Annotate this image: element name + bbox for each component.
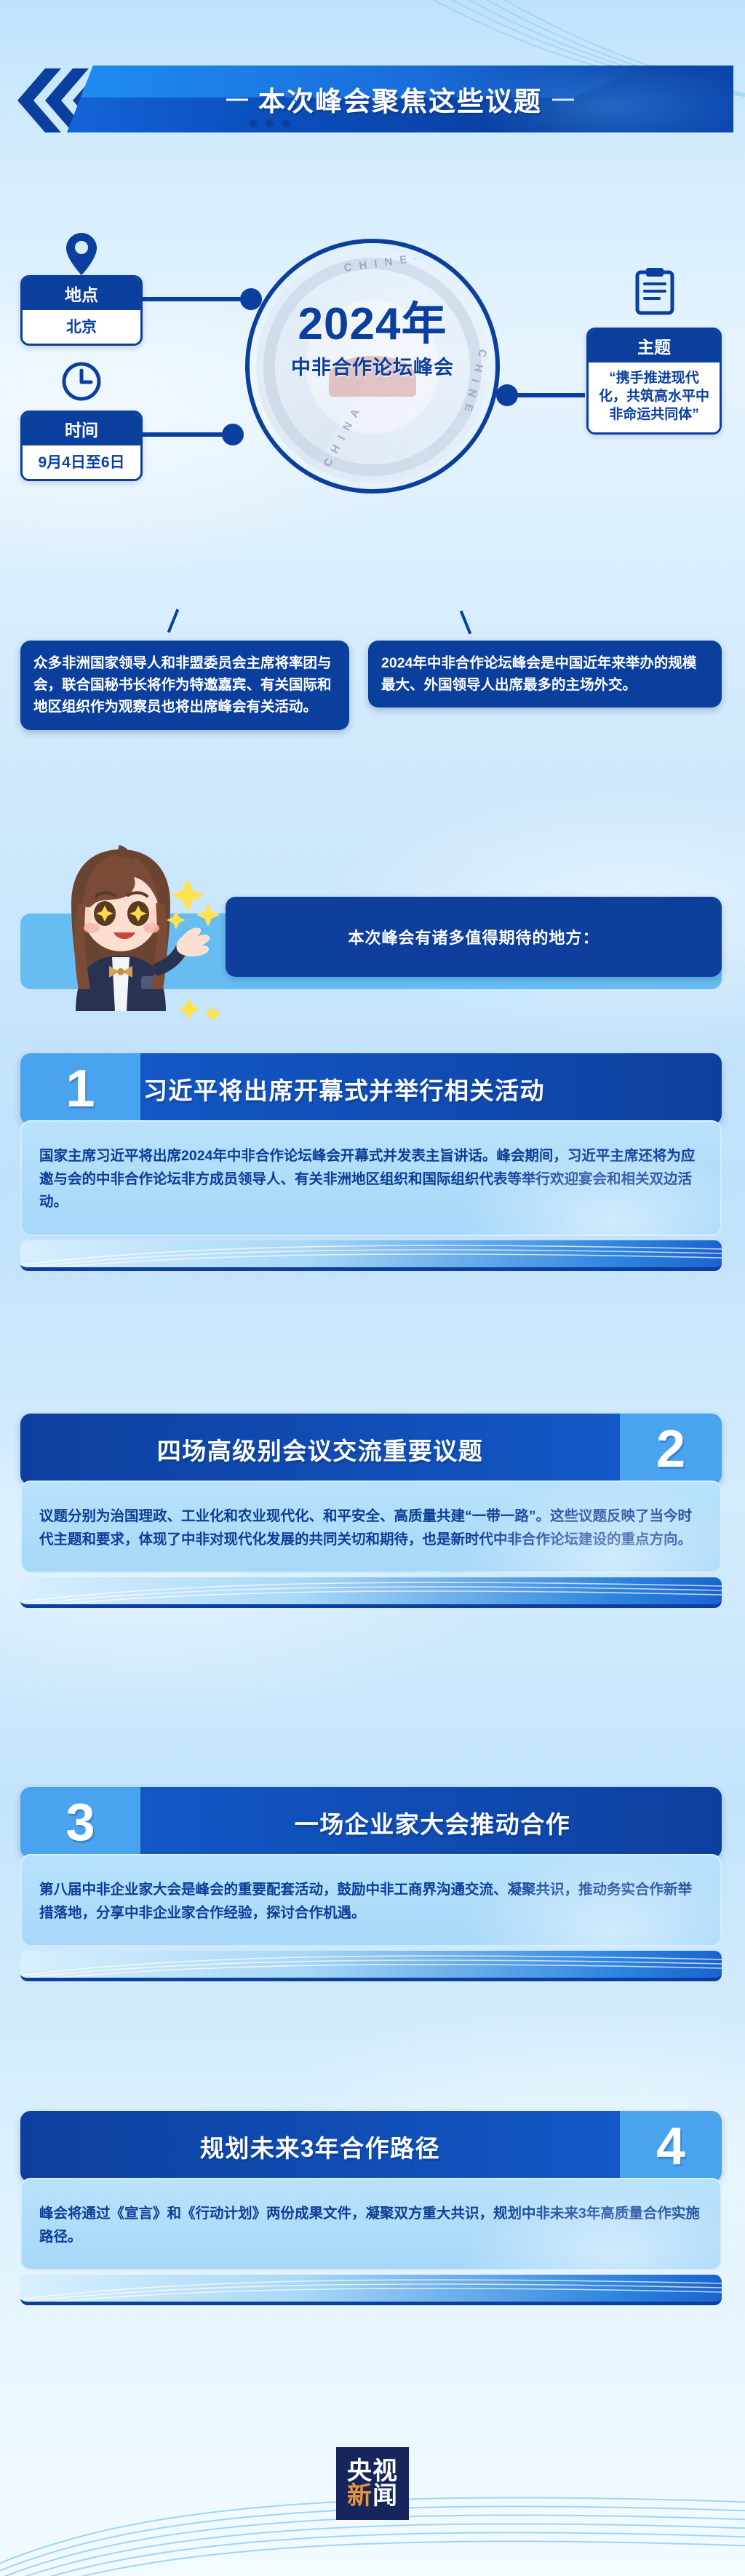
section-3-body: 第八届中非企业家大会是峰会的重要配套活动，鼓励中非工商界沟通交流、凝聚共识，推动…	[20, 1854, 722, 1946]
logo-line-2: 新闻	[347, 2484, 398, 2508]
paragraph-tail-right	[460, 610, 471, 634]
section-1-header: 1 习近平将出席开幕式并举行相关活动	[20, 1053, 722, 1125]
circle-node-top-left	[240, 288, 262, 310]
section-1-title: 习近平将出席开幕式并举行相关活动	[140, 1071, 722, 1106]
circle-node-bottom-left	[222, 424, 244, 445]
logo-char-xin: 新	[347, 2482, 372, 2510]
section-4: 4 规划未来3年合作路径 峰会将通过《宣言》和《行动计划》两份成果文件，凝聚双方…	[20, 2111, 722, 2305]
section-2-title: 四场高级别会议交流重要议题	[20, 1432, 620, 1467]
circle-node-right	[496, 384, 518, 406]
card-location-value: 北京	[23, 310, 140, 344]
section-4-footer-decoration	[20, 2275, 722, 2305]
connector-line-location	[143, 297, 247, 301]
section-3-number: 3	[20, 1796, 140, 1849]
section-1-body: 国家主席习近平将出席2024年中非合作论坛峰会开幕式并发表主旨讲话。峰会期间，习…	[20, 1120, 722, 1236]
section-4-number: 4	[620, 2120, 722, 2173]
summit-year: 2024年	[245, 302, 500, 347]
section-2-number: 2	[620, 1423, 722, 1475]
clipboard-icon	[634, 266, 675, 316]
header-dash-right: —	[552, 88, 574, 110]
section-2-header: 2 四场高级别会议交流重要议题	[20, 1414, 722, 1485]
card-location-head: 地点	[23, 277, 140, 310]
logo-char-wen: 闻	[372, 2482, 398, 2510]
header-dot	[282, 119, 290, 127]
card-time[interactable]: 时间 9月4日至6日	[20, 411, 143, 481]
card-time-value: 9月4日至6日	[23, 445, 140, 479]
hero-section: C H I N A C H I N E - A C H I N E 2024年 …	[0, 218, 745, 597]
section-1: 1 习近平将出席开幕式并举行相关活动 国家主席习近平将出席2024年中非合作论坛…	[20, 1053, 722, 1271]
card-theme-value: “携手推进现代化，共筑高水平中非命运共同体”	[589, 362, 720, 432]
connector-line-theme	[509, 393, 585, 397]
summit-circle-label: 2024年 中非合作论坛峰会	[245, 302, 500, 380]
clock-icon	[61, 361, 102, 402]
paragraph-box-right: 2024年中非合作论坛峰会是中国近年来举办的规模最大、外国领导人出席最多的主场外…	[368, 641, 722, 708]
mascot-banner-text: 本次峰会有诸多值得期待的地方：	[348, 925, 599, 948]
section-3-header: 3 一场企业家大会推动合作	[20, 1787, 722, 1858]
header-dash-left: —	[226, 88, 248, 110]
paragraph-box-left: 众多非洲国家领导人和非盟委员会主席将率团与会，联合国秘书长将作为特邀嘉宾、有关国…	[20, 641, 349, 730]
section-3-title: 一场企业家大会推动合作	[140, 1805, 722, 1840]
section-4-body: 峰会将通过《宣言》和《行动计划》两份成果文件，凝聚双方重大共识，规划中非未来3年…	[20, 2178, 722, 2270]
cctv-news-logo[interactable]: 央视 新闻	[336, 2447, 409, 2520]
section-2-body: 议题分别为治国理政、工业化和农业现代化、和平安全、高质量共建“一带一路”。这些议…	[20, 1481, 722, 1573]
mascot-banner: 本次峰会有诸多值得期待的地方：	[226, 897, 722, 977]
card-theme[interactable]: 主题 “携手推进现代化，共筑高水平中非命运共同体”	[586, 328, 722, 435]
section-1-footer-decoration	[20, 1240, 722, 1271]
paragraph-tail-left	[167, 609, 179, 633]
card-theme-head: 主题	[589, 330, 720, 362]
location-pin-icon	[64, 231, 99, 277]
news-anchor-mascot-icon	[26, 833, 223, 1019]
header-dot	[266, 119, 274, 127]
header-dot	[249, 119, 257, 127]
section-4-title: 规划未来3年合作路径	[20, 2129, 620, 2164]
page-header: — 本次峰会聚焦这些议题 —	[0, 64, 745, 137]
header-banner-bar: — 本次峰会聚焦这些议题 —	[67, 66, 733, 132]
infographic-page: — 本次峰会聚焦这些议题 — C H I N A C H I N E - A C…	[0, 0, 745, 2576]
connector-line-time	[143, 432, 231, 437]
card-time-head: 时间	[23, 413, 140, 445]
section-3: 3 一场企业家大会推动合作 第八届中非企业家大会是峰会的重要配套活动，鼓励中非工…	[20, 1787, 722, 1981]
page-title: 本次峰会聚焦这些议题	[258, 79, 542, 119]
section-1-number: 1	[20, 1063, 140, 1115]
section-4-header: 4 规划未来3年合作路径	[20, 2111, 722, 2182]
header-dot-row	[249, 119, 290, 127]
summit-name: 中非合作论坛峰会	[245, 352, 500, 380]
logo-line-1: 央视	[347, 2459, 398, 2484]
section-2-footer-decoration	[20, 1577, 722, 1608]
section-2: 2 四场高级别会议交流重要议题 议题分别为治国理政、工业化和农业现代化、和平安全…	[20, 1414, 722, 1608]
section-3-footer-decoration	[20, 1951, 722, 1981]
card-location[interactable]: 地点 北京	[20, 275, 143, 346]
